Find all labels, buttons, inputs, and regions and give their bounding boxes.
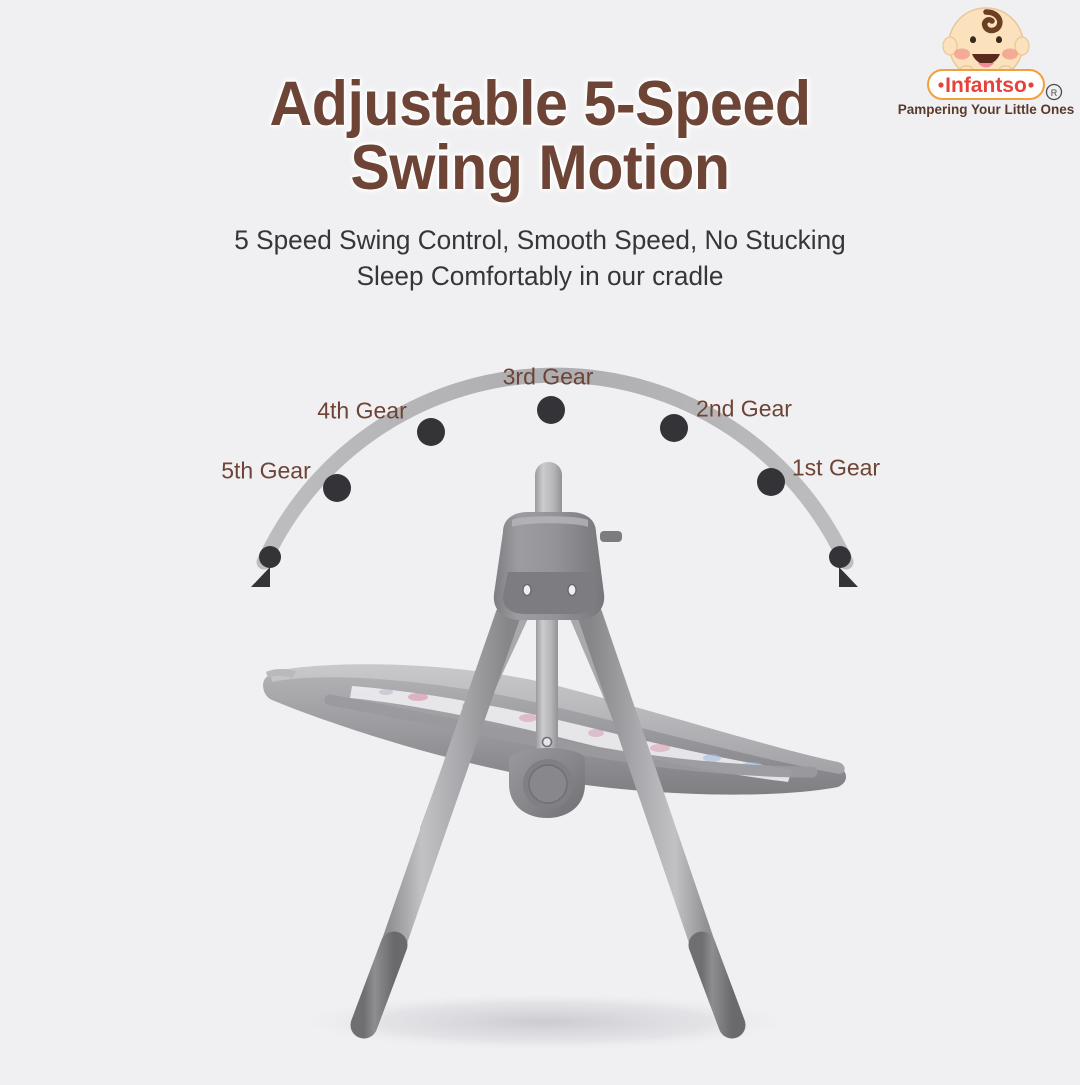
page-subtitle: 5 Speed Swing Control, Smooth Speed, No …	[16, 222, 1064, 294]
brand-logo: Infantso R Pampering Your Little Ones	[898, 4, 1074, 122]
gear-label-3: 3rd Gear	[503, 364, 594, 391]
arc-arrowhead-left	[251, 567, 270, 587]
gear-dot	[537, 396, 565, 424]
infographic-canvas: 1st Gear2nd Gear3rd Gear4th Gear5th Gear…	[0, 0, 1080, 1080]
arc-end-dot-left	[259, 546, 281, 568]
arc-arrowhead-right	[839, 567, 858, 587]
gear-dot	[757, 468, 785, 496]
gear-dot	[660, 414, 688, 442]
gear-dot	[323, 474, 351, 502]
headline-line-1: Adjustable 5-Speed	[269, 69, 810, 139]
gear-dot	[417, 418, 445, 446]
headline-line-2: Swing Motion	[32, 136, 1047, 200]
registered-mark-text: R	[1051, 88, 1058, 98]
gear-label-1: 1st Gear	[792, 455, 880, 482]
gear-label-4: 4th Gear	[317, 398, 407, 425]
gear-label-2: 2nd Gear	[696, 396, 792, 423]
brand-tagline-text: Pampering Your Little Ones	[898, 102, 1074, 117]
gear-label-5: 5th Gear	[221, 458, 311, 485]
subtitle-line-1: 5 Speed Swing Control, Smooth Speed, No …	[234, 225, 845, 255]
subtitle-line-2: Sleep Comfortably in our cradle	[16, 258, 1064, 294]
page-title: Adjustable 5-Speed Swing Motion	[32, 72, 1047, 200]
arc-end-dot-right	[829, 546, 851, 568]
brand-name-text: Infantso	[945, 74, 1027, 97]
